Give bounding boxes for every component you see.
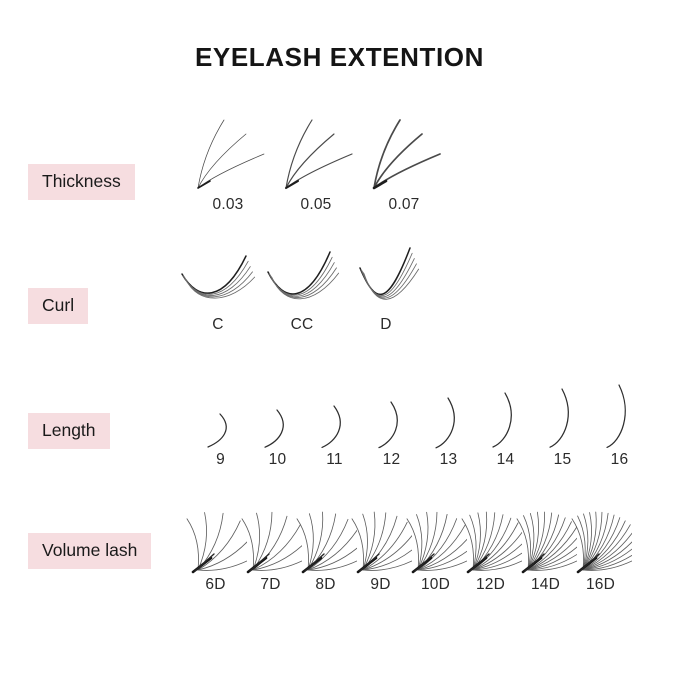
lash-option-caption: C <box>212 317 223 333</box>
lash-single-icon <box>540 386 586 451</box>
lash-curl-d-icon <box>344 244 428 316</box>
row-label-length: Length <box>28 413 110 449</box>
lash-option-length-11[interactable]: 11 <box>306 403 363 468</box>
lash-option-caption: 0.07 <box>389 197 420 213</box>
lash-curl-cc-icon <box>260 244 344 316</box>
volume-fan-12-icon <box>460 494 522 576</box>
lash-single-icon <box>483 390 529 451</box>
lash-option-volume-16D[interactable]: 16D <box>573 494 628 593</box>
lash-fan-thin-icon <box>184 118 272 196</box>
lash-option-length-15[interactable]: 15 <box>534 386 591 468</box>
lash-option-caption: 9D <box>370 577 390 593</box>
lash-option-length-10[interactable]: 10 <box>249 407 306 468</box>
row-label-volume: Volume lash <box>28 533 151 569</box>
volume-fan-10-icon <box>405 494 467 576</box>
lash-single-icon <box>255 407 301 451</box>
lash-option-thickness-0.05[interactable]: 0.05 <box>272 118 360 213</box>
lash-option-thickness-0.03[interactable]: 0.03 <box>184 118 272 213</box>
lash-option-curl-CC[interactable]: CC <box>260 244 344 333</box>
lash-option-caption: 13 <box>440 452 458 468</box>
lash-option-caption: D <box>380 317 391 333</box>
volume-fan-9-icon <box>350 494 412 576</box>
lash-option-caption: 15 <box>554 452 572 468</box>
lash-single-icon <box>597 382 643 451</box>
page-title: EYELASH EXTENTION <box>0 42 679 73</box>
lash-option-caption: 9 <box>216 452 225 468</box>
lash-option-curl-C[interactable]: C <box>176 244 260 333</box>
lash-option-length-16[interactable]: 16 <box>591 382 648 468</box>
lash-option-caption: 12D <box>476 577 505 593</box>
lash-option-caption: 10 <box>269 452 287 468</box>
lash-option-caption: 16D <box>586 577 615 593</box>
volume-fan-14-icon <box>515 494 577 576</box>
lash-option-caption: 0.03 <box>213 197 244 213</box>
lash-single-icon <box>426 395 472 452</box>
lash-option-caption: 7D <box>260 577 280 593</box>
lash-option-volume-8D[interactable]: 8D <box>298 494 353 593</box>
lash-option-length-13[interactable]: 13 <box>420 395 477 468</box>
row-items-length: 910111213141516 <box>192 382 648 468</box>
lash-option-volume-6D[interactable]: 6D <box>188 494 243 593</box>
lash-option-curl-D[interactable]: D <box>344 244 428 333</box>
row-label-thickness: Thickness <box>28 164 135 200</box>
lash-option-volume-9D[interactable]: 9D <box>353 494 408 593</box>
lash-option-volume-12D[interactable]: 12D <box>463 494 518 593</box>
lash-curl-c-icon <box>176 244 260 316</box>
lash-option-length-9[interactable]: 9 <box>192 411 249 468</box>
lash-option-caption: 16 <box>611 452 629 468</box>
lash-option-volume-7D[interactable]: 7D <box>243 494 298 593</box>
volume-fan-6-icon <box>185 494 247 576</box>
lash-option-thickness-0.07[interactable]: 0.07 <box>360 118 448 213</box>
row-items-thickness: 0.030.050.07 <box>184 118 448 213</box>
lash-fan-thick-icon <box>360 118 448 196</box>
volume-fan-7-icon <box>240 494 302 576</box>
lash-option-caption: 6D <box>205 577 225 593</box>
lash-single-icon <box>198 411 244 451</box>
volume-fan-16-icon <box>570 494 632 576</box>
lash-option-caption: 14D <box>531 577 560 593</box>
volume-fan-8-icon <box>295 494 357 576</box>
lash-option-caption: 11 <box>326 452 343 468</box>
row-items-curl: CCCD <box>176 244 428 333</box>
lash-option-caption: CC <box>291 317 314 333</box>
lash-option-length-14[interactable]: 14 <box>477 390 534 468</box>
lash-option-caption: 10D <box>421 577 450 593</box>
lash-single-icon <box>369 399 415 452</box>
lash-option-caption: 12 <box>383 452 401 468</box>
lash-option-volume-10D[interactable]: 10D <box>408 494 463 593</box>
row-items-volume: 6D7D8D9D10D12D14D16D <box>188 494 628 593</box>
lash-option-caption: 14 <box>497 452 515 468</box>
eyelash-extension-chart: EYELASH EXTENTION Thickness 0.030.050.07… <box>0 0 679 679</box>
lash-option-caption: 8D <box>315 577 335 593</box>
lash-option-caption: 0.05 <box>301 197 332 213</box>
lash-single-icon <box>312 403 358 451</box>
row-label-curl: Curl <box>28 288 88 324</box>
lash-option-volume-14D[interactable]: 14D <box>518 494 573 593</box>
lash-fan-medium-icon <box>272 118 360 196</box>
lash-option-length-12[interactable]: 12 <box>363 399 420 468</box>
